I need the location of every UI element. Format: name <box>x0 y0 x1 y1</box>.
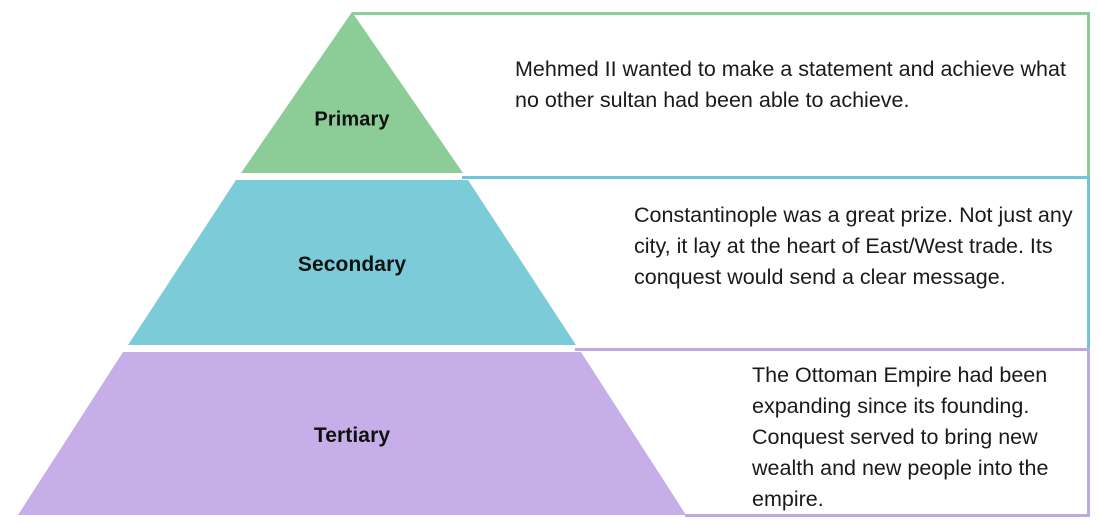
divider-line-tertiary-right <box>1087 348 1090 517</box>
description-text-primary: Mehmed II wanted to make a statement and… <box>515 54 1075 116</box>
description-text-tertiary: The Ottoman Empire had been expanding si… <box>752 360 1082 515</box>
divider-line-primary-right <box>1087 12 1090 178</box>
divider-line-tertiary-top <box>575 348 1087 351</box>
description-panel-secondary: Constantinople was a great prize. Not ju… <box>462 176 1090 350</box>
divider-line-primary-top <box>352 12 1087 15</box>
pyramid-diagram: Primary Secondary Tertiary Mehmed II wan… <box>0 0 1100 523</box>
description-text-secondary: Constantinople was a great prize. Not ju… <box>634 200 1084 293</box>
divider-line-secondary-top <box>462 176 1087 179</box>
description-panel-tertiary: The Ottoman Empire had been expanding si… <box>575 348 1090 517</box>
divider-line-secondary-right <box>1087 176 1090 350</box>
pyramid-tier-label-secondary: Secondary <box>298 253 406 277</box>
description-panel-primary: Mehmed II wanted to make a statement and… <box>352 12 1090 178</box>
pyramid-tier-label-tertiary: Tertiary <box>314 424 390 448</box>
